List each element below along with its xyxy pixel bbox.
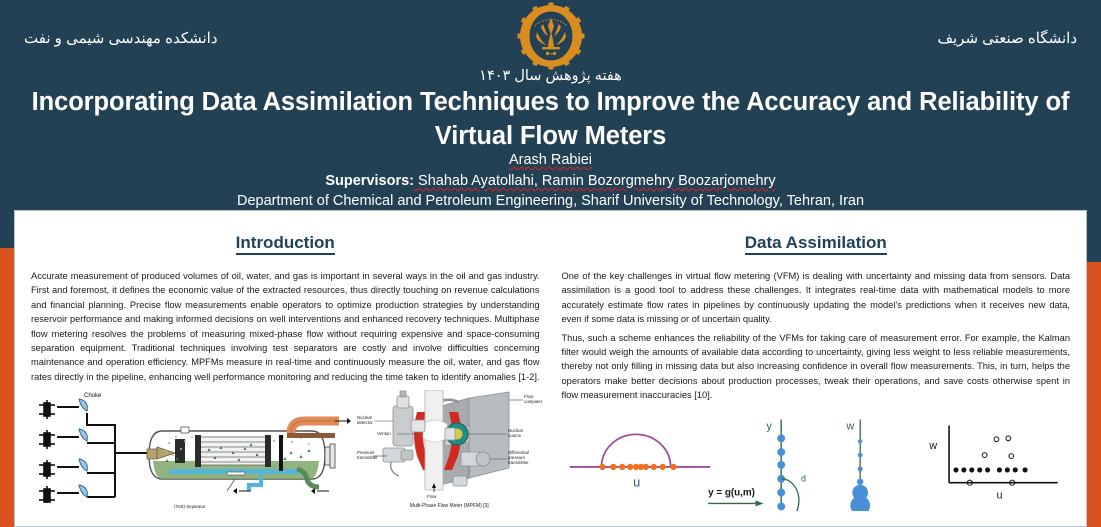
- data-assimilation-paragraph-1: One of the key challenges in virtual flo…: [562, 269, 1071, 327]
- accent-stripe-left: [0, 248, 14, 527]
- poster-title: Incorporating Data Assimilation Techniqu…: [30, 86, 1071, 154]
- column-introduction: Introduction Accurate measurement of pro…: [31, 233, 540, 526]
- data-assimilation-figures: u y = g(u,m) y: [562, 411, 1071, 511]
- axis-label-d: d: [800, 473, 805, 483]
- axis-label-u-prior: u: [633, 474, 640, 489]
- introduction-paragraph-1: Accurate measurement of produced volumes…: [31, 269, 540, 384]
- scatter-axis-label-u: u: [996, 489, 1002, 501]
- introduction-figures: Choke: [31, 390, 540, 509]
- sharif-university-logo-icon: [509, 2, 593, 70]
- observation-axis: y d: [766, 419, 806, 510]
- supervisors-label: Supervisors:: [325, 173, 414, 189]
- author-name: Arash Rabiei: [0, 152, 1101, 168]
- section-heading-introduction: Introduction: [31, 233, 540, 253]
- test-separator-diagram: Choke: [29, 391, 351, 503]
- axis-label-y: y: [766, 420, 772, 432]
- department-line: Department of Chemical and Petroleum Eng…: [0, 193, 1101, 209]
- label-flow: Flow: [427, 494, 437, 499]
- forward-map-equation: y = g(u,m): [708, 487, 755, 498]
- forward-map-diagram: y = g(u,m): [708, 487, 763, 506]
- section-heading-data-assimilation-text: Data Assimilation: [745, 233, 887, 255]
- author-name-text: Arash Rabiei: [509, 152, 592, 168]
- poster-root: دانشکده مهندسی شیمی و نفت دانشگاه صنعتی …: [0, 0, 1101, 527]
- mpfm-caption: Multi-Phase Flow Meter (MPFM) [3]: [357, 503, 542, 509]
- supervisors-line: Supervisors: Shahab Ayatollahi, Ramin Bo…: [0, 173, 1101, 189]
- test-separator-figure: Choke: [29, 391, 351, 509]
- research-week-fa: هفته پژوهش سال ۱۴۰۳: [0, 68, 1101, 84]
- poster-header: دانشکده مهندسی شیمی و نفت دانشگاه صنعتی …: [0, 0, 1101, 210]
- svg-text:transmitter: transmitter: [508, 460, 529, 465]
- section-heading-data-assimilation: Data Assimilation: [562, 233, 1071, 253]
- test-separator-caption: (Test) Separator: [29, 504, 351, 509]
- accent-stripe-right: [1087, 262, 1101, 527]
- svg-text:computer: computer: [524, 399, 542, 404]
- weighted-particles-scatter: w u: [928, 425, 1057, 501]
- supervisors-names: Shahab Ayatollahi, Ramin Bozorgmehry Boo…: [414, 173, 776, 189]
- data-assimilation-paragraph-2: Thus, such a scheme enhances the reliabi…: [562, 331, 1071, 403]
- mpfm-figure: Flow computer Nuclear detector Venturi P…: [357, 390, 542, 509]
- axis-label-w-weights: w: [845, 420, 854, 432]
- svg-text:source: source: [508, 433, 522, 438]
- choke-label: Choke: [84, 393, 102, 399]
- poster-body-card: Introduction Accurate measurement of pro…: [14, 210, 1087, 527]
- column-data-assimilation: Data Assimilation One of the key challen…: [562, 233, 1071, 526]
- svg-text:transmitter: transmitter: [357, 455, 378, 460]
- label-venturi: Venturi: [377, 431, 391, 436]
- svg-text:detector: detector: [357, 420, 373, 425]
- data-assimilation-schematic: u y = g(u,m) y: [562, 411, 1071, 511]
- university-name-fa: دانشگاه صنعتی شریف: [937, 29, 1077, 47]
- prior-distribution-diagram: u: [569, 434, 709, 489]
- weights-diagram: w: [845, 419, 870, 510]
- faculty-name-fa: دانشکده مهندسی شیمی و نفت: [24, 29, 218, 47]
- multiphase-flow-meter-diagram: Flow computer Nuclear detector Venturi P…: [357, 390, 542, 502]
- scatter-axis-label-w: w: [928, 440, 937, 452]
- section-heading-introduction-text: Introduction: [236, 233, 335, 255]
